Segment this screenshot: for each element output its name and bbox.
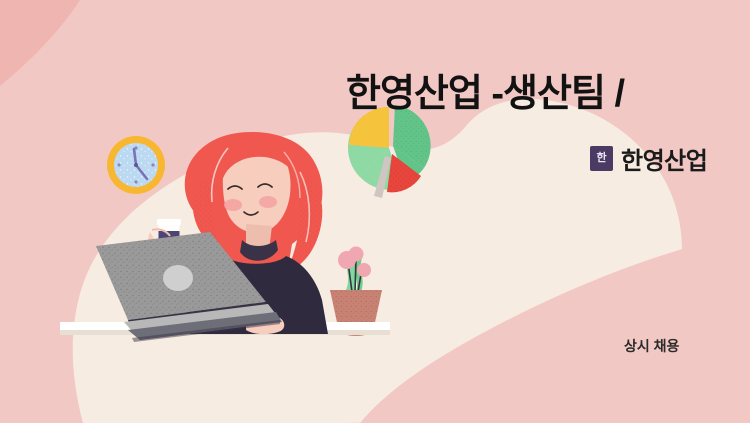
job-posting-banner: 한영산업 -생산팀 / 한 한영산업 상시 채용 <box>0 0 750 423</box>
wall-clock-illustration <box>107 136 165 194</box>
company-logo-lockup: 한 한영산업 <box>590 141 707 176</box>
illustration-artwork <box>0 0 750 423</box>
company-logo-mark: 한 <box>590 146 613 171</box>
hiring-status-label: 상시 채용 <box>624 336 679 356</box>
page-title: 한영산업 -생산팀 / <box>346 74 624 116</box>
company-name: 한영산업 <box>621 141 707 176</box>
